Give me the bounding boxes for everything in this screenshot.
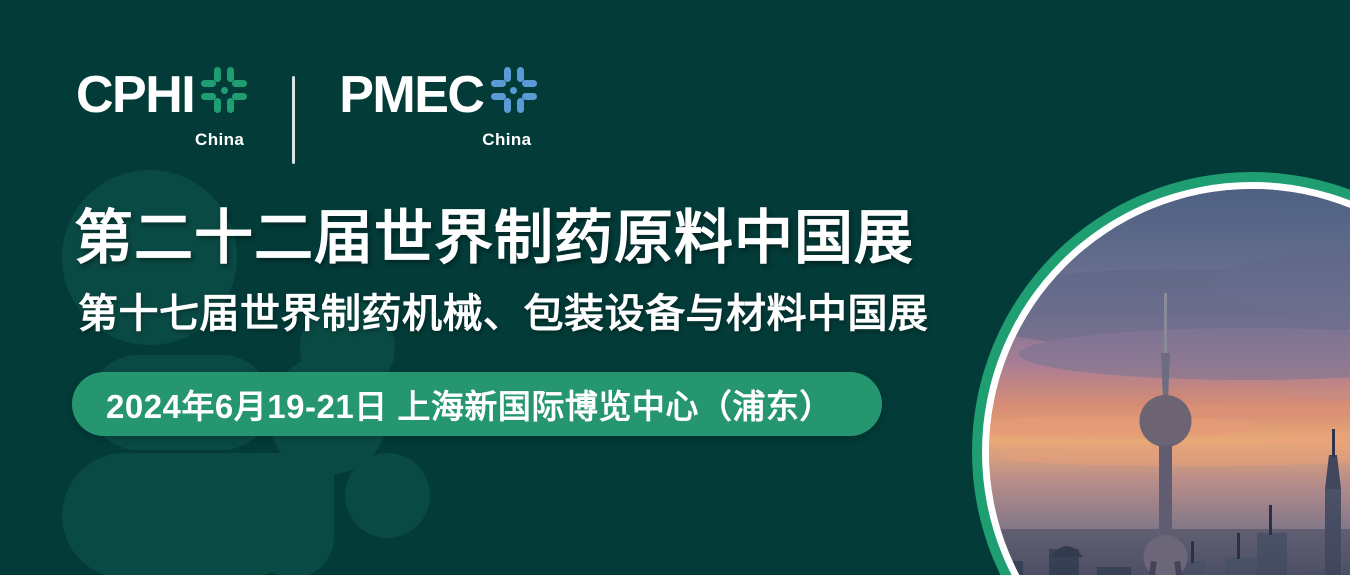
decor-shape-halfcapsule-6 [252,453,334,575]
banner-subheadline: 第十七届世界制药机械、包装设备与材料中国展 [78,291,929,337]
logo-divider [292,76,295,164]
skyline-photo-ring-outer [972,172,1350,575]
pmec-china-label: China [339,130,537,150]
cphi-logo-main: CPHI [76,70,248,120]
pmec-logo-main: PMEC [339,70,537,120]
pmec-logo[interactable]: PMEC China [339,70,537,150]
cphi-dot-mark-icon [200,66,248,114]
cphi-wordmark: CPHI [76,70,194,120]
decor-shape-capsule-5 [62,453,307,575]
cphi-logo[interactable]: CPHI China [76,70,248,150]
pmec-dot-mark-icon [490,66,538,114]
pmec-wordmark: PMEC [339,70,483,120]
date-venue-pill[interactable]: 2024年6月19-21日 上海新国际博览中心（浦东） [72,372,882,436]
event-banner: CPHI China PMEC [0,0,1350,575]
logo-lockup: CPHI China PMEC [76,70,538,170]
banner-headline: 第二十二届世界制药原料中国展 [74,206,914,270]
decor-shape-circle-7 [345,453,430,538]
cphi-china-label: China [76,130,248,150]
date-venue-text: 2024年6月19-21日 上海新国际博览中心（浦东） [106,380,833,428]
shanghai-skyline-photo [989,189,1350,575]
skyline-photo-ring-inner [982,182,1350,575]
